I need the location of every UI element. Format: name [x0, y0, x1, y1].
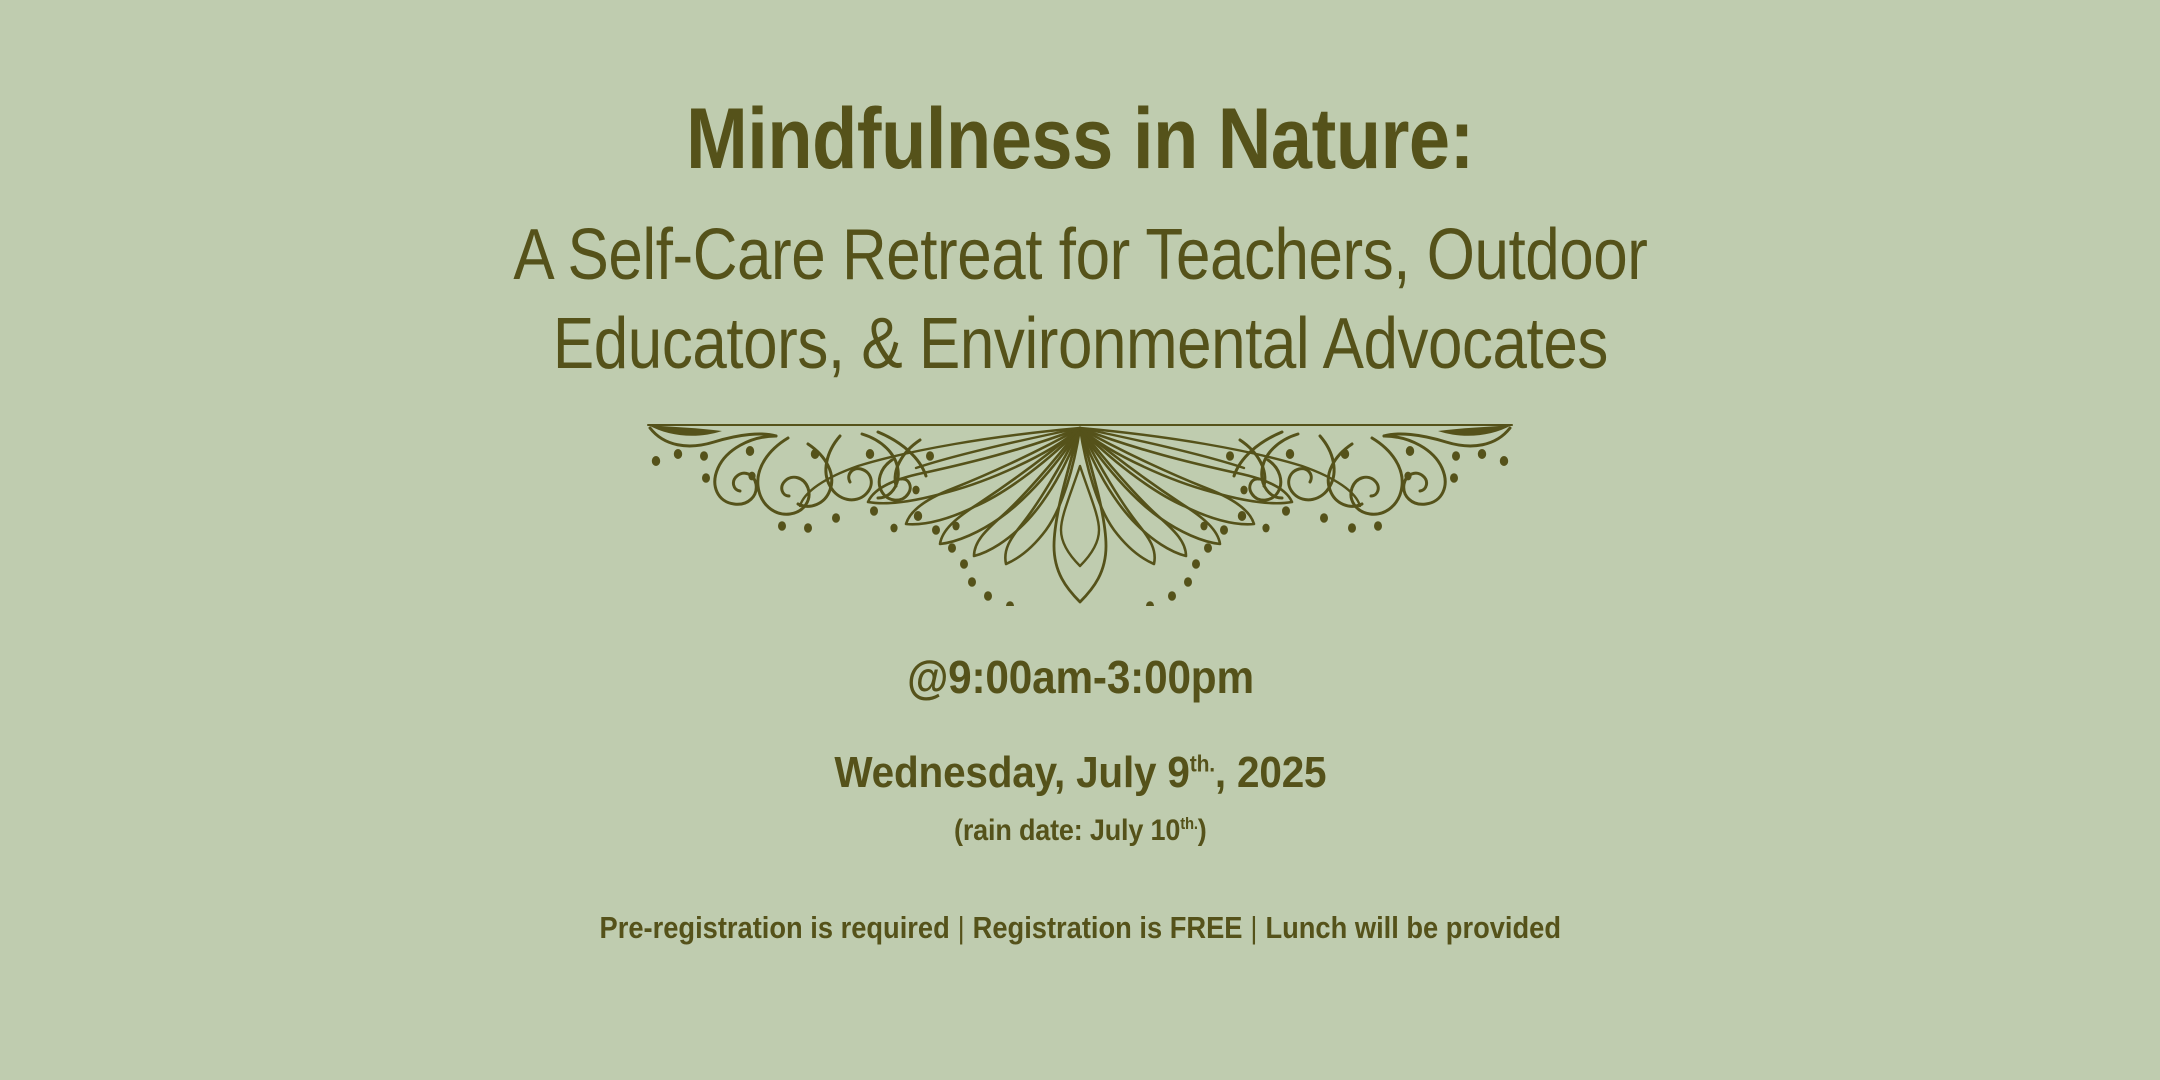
event-date-year: , 2025: [1215, 748, 1326, 797]
event-date-main: Wednesday, July 9: [834, 748, 1189, 797]
subtitle-line-2: Educators, & Environmental Advocates: [513, 305, 1647, 384]
event-date: Wednesday, July 9th., 2025: [834, 748, 1326, 798]
rain-date-suffix: th.: [1180, 815, 1198, 833]
rain-date-close: ): [1197, 814, 1206, 847]
note-lunch-provided: Lunch will be provided: [1265, 910, 1561, 945]
note-separator-1: |: [949, 910, 972, 945]
floral-lotus-flourish-divider-icon: [630, 406, 1530, 606]
note-separator-2: |: [1242, 910, 1265, 945]
registration-notes: Pre-registration is required|Registratio…: [599, 910, 1560, 946]
rain-date: (rain date: July 10th.): [954, 814, 1207, 848]
event-time: @9:00am-3:00pm: [907, 650, 1254, 704]
rain-date-prefix: (rain date: July 10: [954, 814, 1180, 847]
event-flyer: Mindfulness in Nature: A Self-Care Retre…: [0, 0, 2160, 1080]
subtitle-line-1: A Self-Care Retreat for Teachers, Outdoo…: [513, 216, 1647, 295]
note-pre-registration: Pre-registration is required: [599, 910, 949, 945]
subtitle-block: A Self-Care Retreat for Teachers, Outdoo…: [421, 216, 1740, 394]
page-title: Mindfulness in Nature:: [686, 96, 1474, 182]
note-registration-free: Registration is FREE: [972, 910, 1242, 945]
event-date-suffix: th.: [1189, 751, 1214, 777]
